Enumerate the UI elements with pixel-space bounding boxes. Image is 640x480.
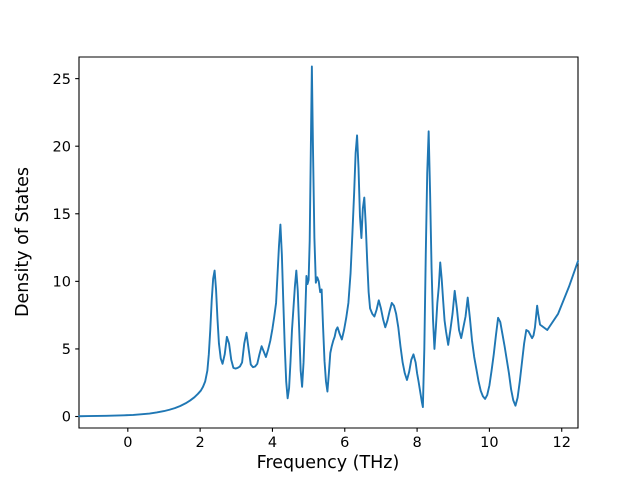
x-axis-ticks: 024681012 xyxy=(123,428,571,451)
x-axis-label: Frequency (THz) xyxy=(257,453,400,473)
y-tick-label: 20 xyxy=(53,139,71,155)
x-tick-label: 4 xyxy=(268,435,277,451)
x-tick-label: 2 xyxy=(196,435,205,451)
y-tick-label: 15 xyxy=(53,207,71,223)
x-tick-label: 12 xyxy=(553,435,571,451)
y-tick-label: 0 xyxy=(62,410,71,426)
y-tick-label: 10 xyxy=(53,275,71,291)
y-tick-label: 25 xyxy=(53,72,71,88)
y-axis-ticks: 0510152025 xyxy=(53,72,79,426)
plot-canvas: 024681012 0510152025 Frequency (THz) Den… xyxy=(0,0,640,480)
x-tick-label: 6 xyxy=(340,435,349,451)
x-tick-label: 0 xyxy=(123,435,132,451)
phonon-dos-figure: 024681012 0510152025 Frequency (THz) Den… xyxy=(0,0,640,480)
x-tick-label: 8 xyxy=(412,435,421,451)
y-axis-label: Density of States xyxy=(13,167,33,317)
y-tick-label: 5 xyxy=(62,342,71,358)
x-tick-label: 10 xyxy=(480,435,498,451)
